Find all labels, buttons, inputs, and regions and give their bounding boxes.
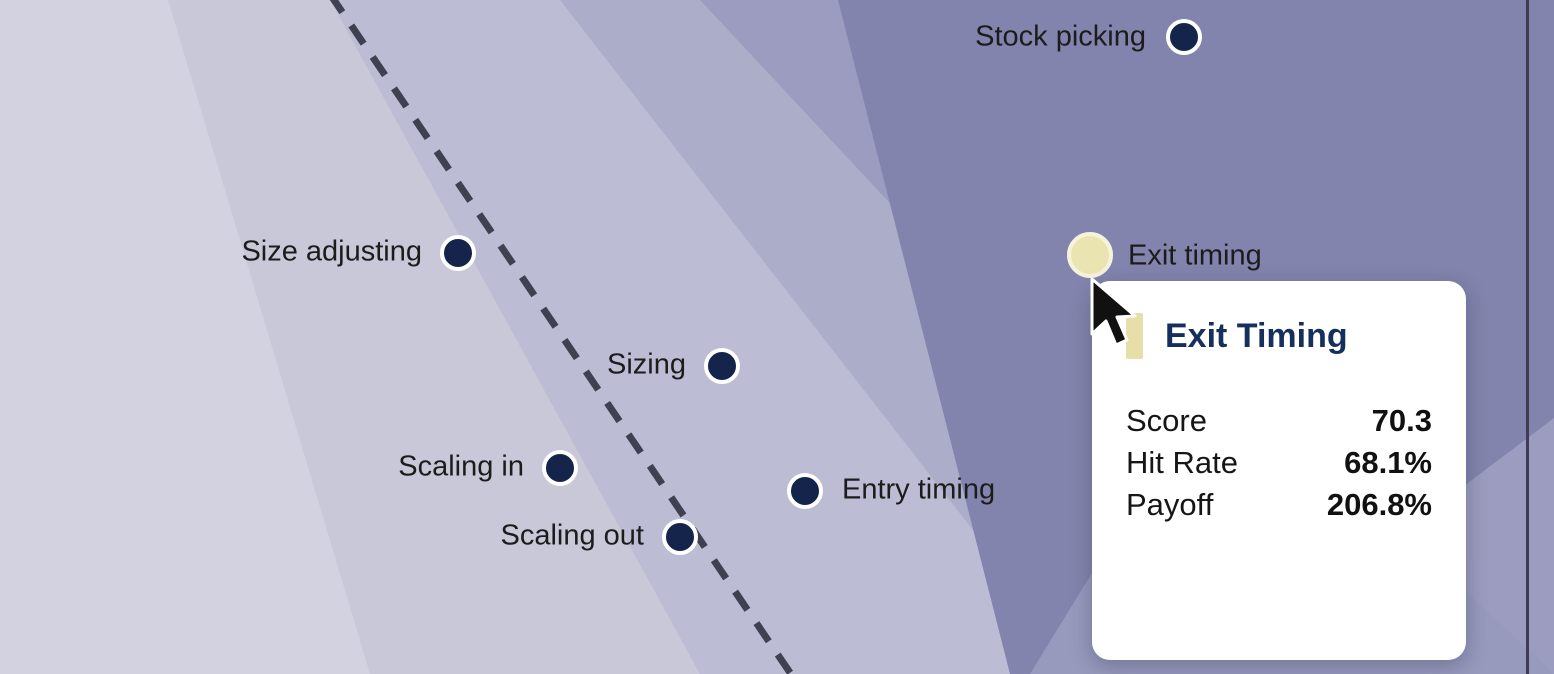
y-axis-line bbox=[1526, 0, 1529, 674]
data-point-size-adjusting[interactable] bbox=[440, 235, 476, 271]
data-point-label-entry-timing: Entry timing bbox=[842, 474, 995, 507]
data-point-label-scaling-out: Scaling out bbox=[501, 520, 645, 553]
data-point-stock-picking[interactable] bbox=[1166, 19, 1202, 55]
tooltip-header: Exit Timing bbox=[1126, 313, 1432, 359]
data-point-scaling-out[interactable] bbox=[662, 519, 698, 555]
metric-value-payoff: 206.8% bbox=[1327, 487, 1432, 523]
tooltip-metric-list: Score 70.3 Hit Rate 68.1% Payoff 206.8% bbox=[1126, 403, 1432, 523]
tooltip-title: Exit Timing bbox=[1165, 317, 1348, 356]
data-point-label-sizing: Sizing bbox=[607, 349, 686, 382]
metric-value-hit-rate: 68.1% bbox=[1344, 445, 1432, 481]
metric-value-score: 70.3 bbox=[1372, 403, 1432, 439]
data-point-label-scaling-in: Scaling in bbox=[398, 451, 524, 484]
metric-key-score: Score bbox=[1126, 403, 1207, 439]
scatter-chart-canvas: Stock picking Size adjusting Sizing Scal… bbox=[0, 0, 1554, 674]
data-point-entry-timing[interactable] bbox=[787, 473, 823, 509]
tooltip-metric-row: Score 70.3 bbox=[1126, 403, 1432, 439]
metric-key-hit-rate: Hit Rate bbox=[1126, 445, 1238, 481]
data-point-label-stock-picking: Stock picking bbox=[975, 21, 1146, 54]
accent-bar-icon bbox=[1126, 313, 1143, 359]
data-point-label-size-adjusting: Size adjusting bbox=[241, 236, 422, 269]
tooltip-metric-row: Payoff 206.8% bbox=[1126, 487, 1432, 523]
point-tooltip: Exit Timing Score 70.3 Hit Rate 68.1% Pa… bbox=[1092, 281, 1466, 660]
data-point-sizing[interactable] bbox=[704, 348, 740, 384]
tooltip-metric-row: Hit Rate 68.1% bbox=[1126, 445, 1432, 481]
data-point-label-exit-timing: Exit timing bbox=[1128, 240, 1262, 273]
data-point-scaling-in[interactable] bbox=[542, 450, 578, 486]
metric-key-payoff: Payoff bbox=[1126, 487, 1213, 523]
data-point-exit-timing[interactable] bbox=[1067, 232, 1113, 278]
